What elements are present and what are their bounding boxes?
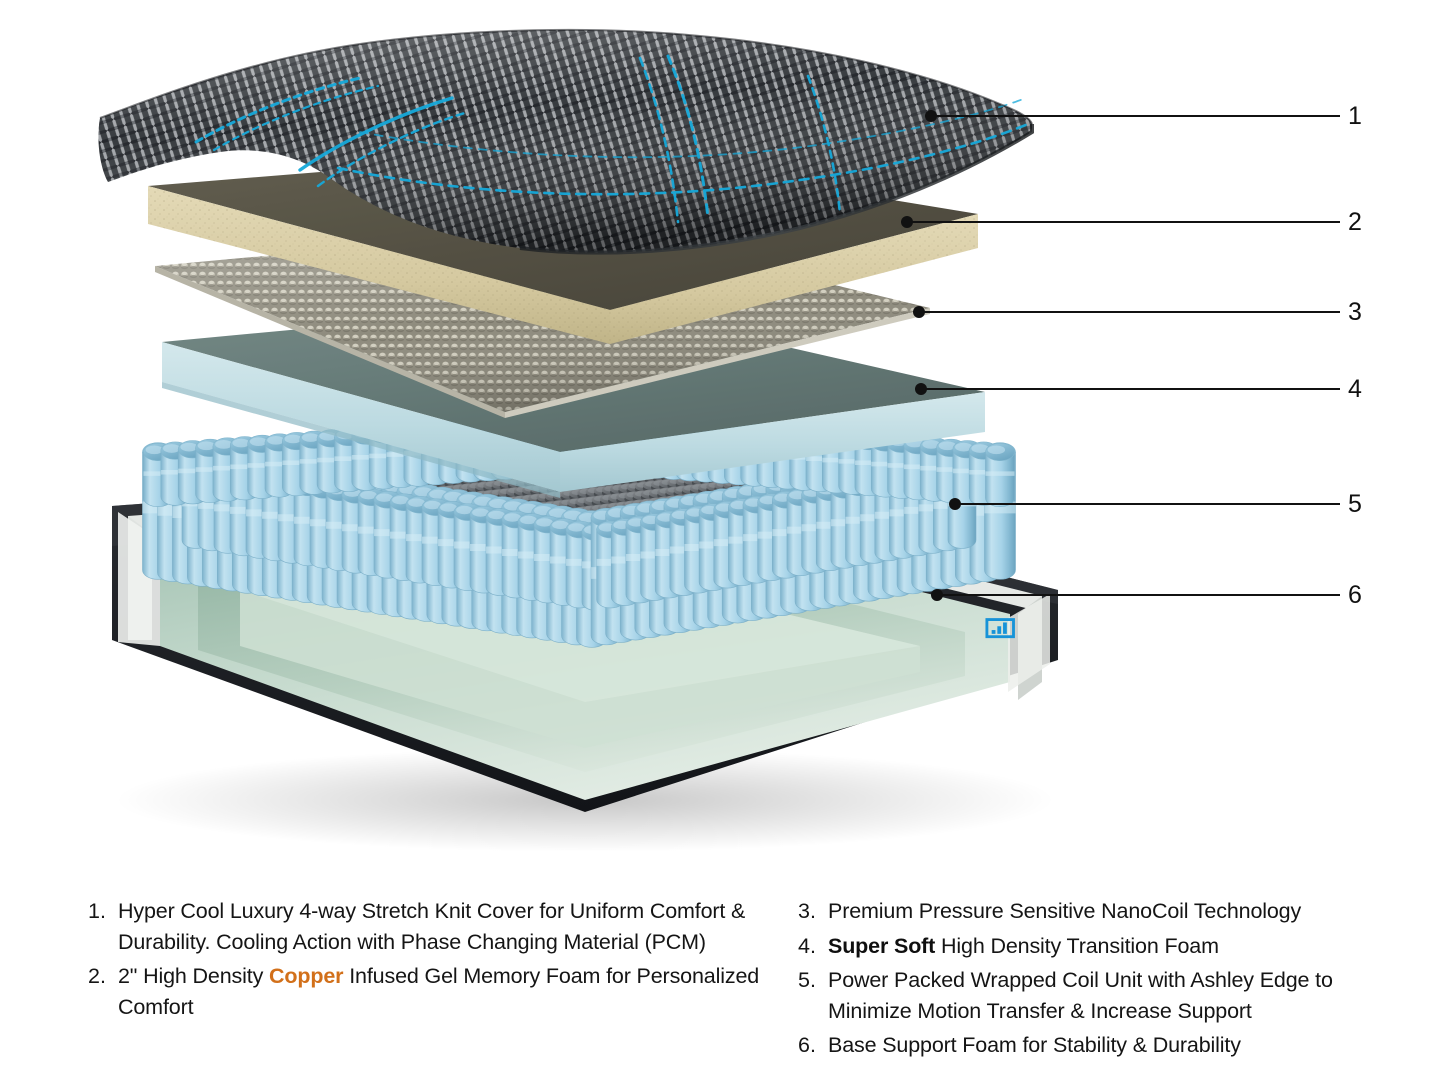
callout-number-1: 1 [1348, 100, 1362, 132]
legend-item-number: 4. [798, 931, 828, 962]
callout-number-6: 6 [1348, 579, 1362, 611]
legend-text-span: Premium Pressure Sensitive NanoCoil Tech… [828, 899, 1301, 923]
diagram-svg [0, 0, 1445, 880]
legend-text-span: Power Packed Wrapped Coil Unit with Ashl… [828, 968, 1333, 1023]
callout-number-2: 2 [1348, 206, 1362, 238]
callout-number-4: 4 [1348, 373, 1362, 405]
callout-line-3 [919, 311, 1340, 313]
legend-item: 4.Super Soft High Density Transition Foa… [798, 931, 1398, 962]
legend-column-left: 1.Hyper Cool Luxury 4-way Stretch Knit C… [88, 896, 788, 1026]
legend-item-number: 3. [798, 896, 828, 927]
legend-item-text: Super Soft High Density Transition Foam [828, 931, 1398, 962]
legend-item: 5.Power Packed Wrapped Coil Unit with As… [798, 965, 1398, 1026]
legend-item-text: Base Support Foam for Stability & Durabi… [828, 1030, 1398, 1061]
legend-item-number: 2. [88, 961, 118, 992]
legend-item: 6.Base Support Foam for Stability & Dura… [798, 1030, 1398, 1061]
legend-item: 1.Hyper Cool Luxury 4-way Stretch Knit C… [88, 896, 788, 957]
callout-line-5 [955, 503, 1340, 505]
exploded-mattress-diagram: 1 2 3 4 5 6 [0, 0, 1445, 880]
legend-item-text: Power Packed Wrapped Coil Unit with Ashl… [828, 965, 1398, 1026]
callout-line-1 [931, 115, 1340, 117]
callout-line-2 [907, 221, 1340, 223]
bold-highlight: Super Soft [828, 934, 935, 958]
legend: 1.Hyper Cool Luxury 4-way Stretch Knit C… [0, 896, 1445, 1084]
legend-item-number: 1. [88, 896, 118, 927]
legend-text-span: Base Support Foam for Stability & Durabi… [828, 1033, 1241, 1057]
callout-number-5: 5 [1348, 488, 1362, 520]
mattress-layers-infographic: 1 2 3 4 5 6 1.Hyper Cool Luxury [0, 0, 1445, 1084]
legend-item: 2.2" High Density Copper Infused Gel Mem… [88, 961, 788, 1022]
callout-number-3: 3 [1348, 296, 1362, 328]
legend-item-text: 2" High Density Copper Infused Gel Memor… [118, 961, 788, 1022]
legend-text-span: 2" High Density [118, 964, 269, 988]
legend-column-right: 3.Premium Pressure Sensitive NanoCoil Te… [798, 896, 1398, 1065]
legend-item-number: 6. [798, 1030, 828, 1061]
legend-item-number: 5. [798, 965, 828, 996]
copper-highlight: Copper [269, 964, 343, 988]
legend-text-span: Hyper Cool Luxury 4-way Stretch Knit Cov… [118, 899, 745, 954]
callout-line-4 [921, 388, 1340, 390]
legend-text-span: High Density Transition Foam [935, 934, 1219, 958]
legend-item: 3.Premium Pressure Sensitive NanoCoil Te… [798, 896, 1398, 927]
callout-line-6 [937, 594, 1340, 596]
legend-item-text: Hyper Cool Luxury 4-way Stretch Knit Cov… [118, 896, 788, 957]
legend-item-text: Premium Pressure Sensitive NanoCoil Tech… [828, 896, 1398, 927]
